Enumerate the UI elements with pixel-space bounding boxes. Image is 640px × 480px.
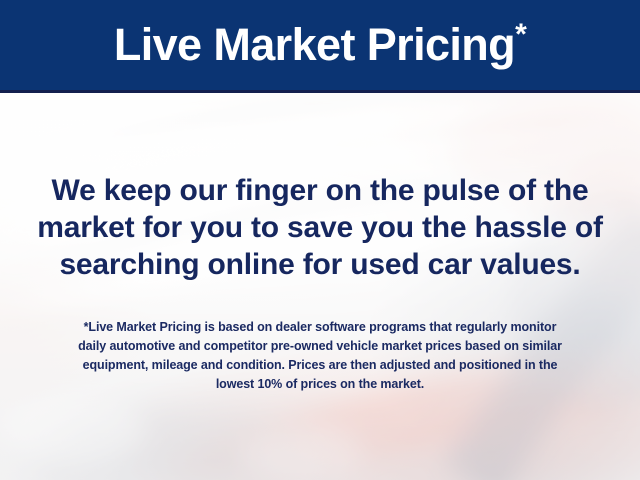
banner-title: Live Market Pricing* [114,22,526,69]
banner-title-text: Live Market Pricing [114,19,515,70]
headline-line-3: searching online for used car values. [26,246,614,283]
headline-line-2: market for you to save you the hassle of [26,209,614,246]
banner-title-asterisk: * [515,18,526,51]
disclaimer-line-1: *Live Market Pricing is based on dealer … [26,318,614,337]
headline-line-1: We keep our finger on the pulse of the [26,172,614,209]
disclaimer-text: *Live Market Pricing is based on dealer … [0,318,640,394]
disclaimer-line-4: lowest 10% of prices on the market. [26,375,614,394]
disclaimer-line-2: daily automotive and competitor pre-owne… [26,337,614,356]
header-banner: Live Market Pricing* [0,0,640,90]
disclaimer-line-3: equipment, mileage and condition. Prices… [26,356,614,375]
live-market-pricing-promo-card: Live Market Pricing* We keep our finger … [0,0,640,480]
headline: We keep our finger on the pulse of the m… [0,172,640,283]
